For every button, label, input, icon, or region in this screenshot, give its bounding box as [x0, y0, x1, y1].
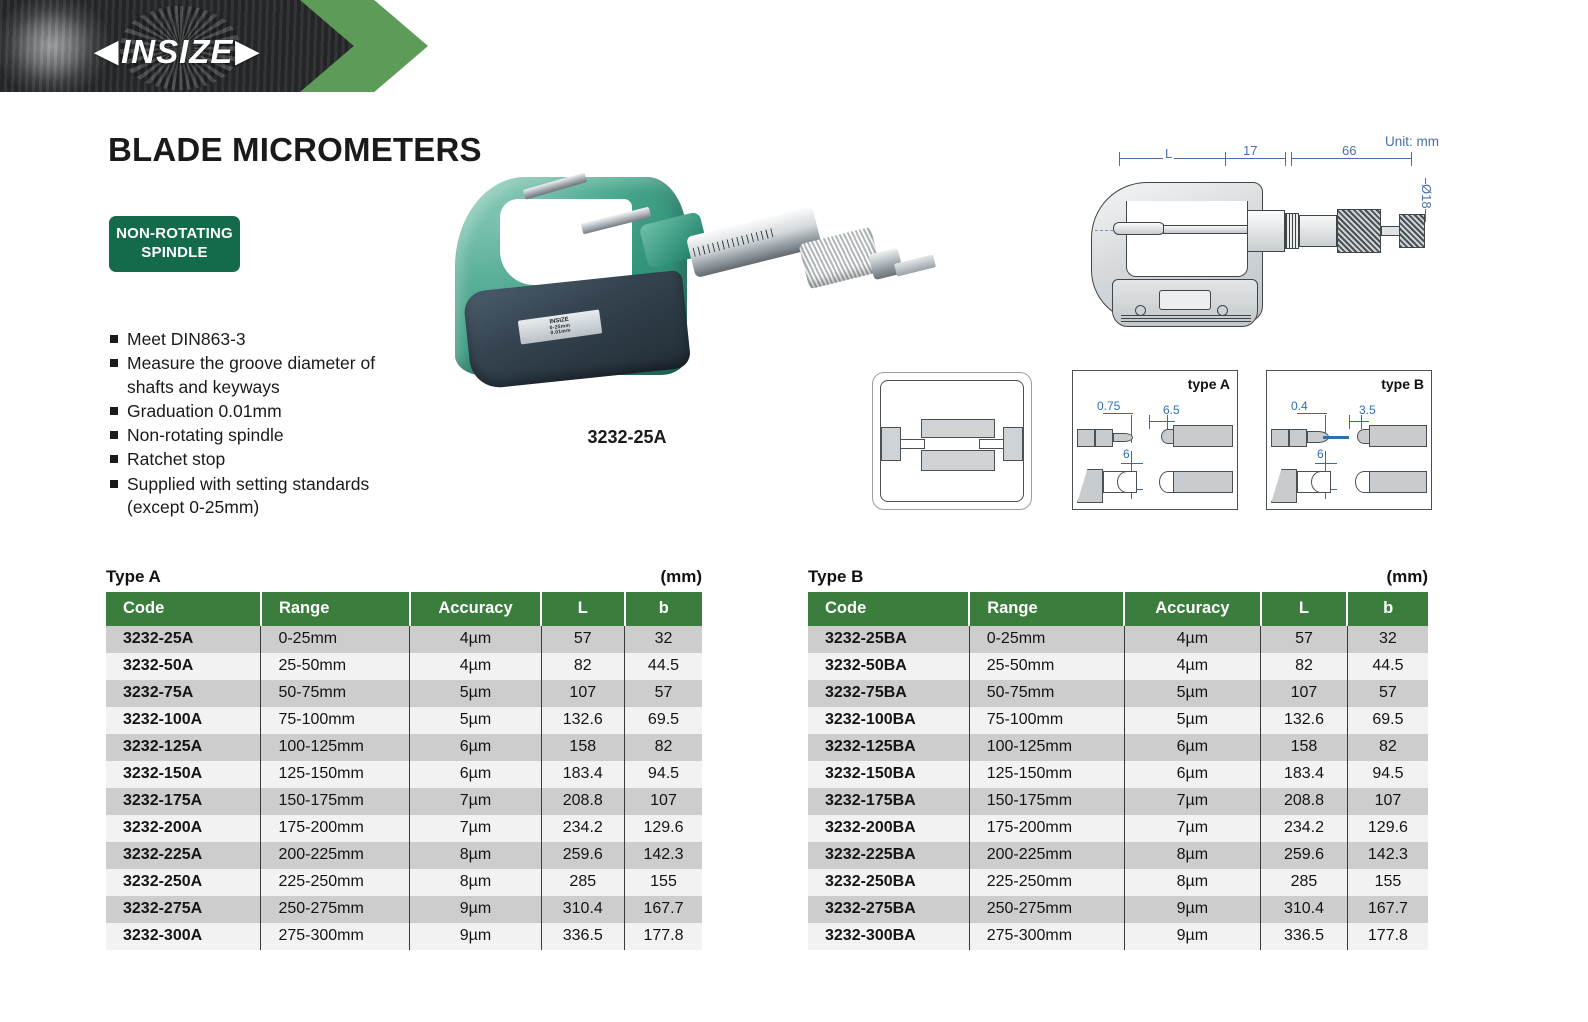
type-b-caption-text: Type B — [808, 567, 863, 587]
bullet-square-icon — [110, 455, 118, 463]
table-row[interactable]: 3232-225A 200-225mm 8µm 259.6 142.3 — [106, 842, 702, 869]
cell-b: 94.5 — [1347, 761, 1428, 788]
cell-accuracy: 9µm — [1124, 923, 1260, 950]
type-b-width-ext-l — [1349, 415, 1350, 429]
cell-b: 32 — [625, 626, 703, 653]
drawing-base-plate — [1159, 290, 1211, 310]
badge-line-2: SPINDLE — [141, 244, 207, 263]
cell-accuracy: 4µm — [410, 653, 541, 680]
cell-accuracy: 9µm — [1124, 896, 1260, 923]
bullet-square-icon — [110, 431, 118, 439]
cell-code: 3232-50BA — [808, 653, 969, 680]
cell-l: 259.6 — [1261, 842, 1348, 869]
type-a-detail-diagram: type A 0.75 6.5 6 — [1072, 370, 1238, 510]
catalog-page: ◀ INSIZE ▶ BLADE MICROMETERS NON-ROTATIN… — [0, 0, 1588, 1022]
table-row[interactable]: 3232-75A 50-75mm 5µm 107 57 — [106, 680, 702, 707]
cell-range: 25-50mm — [969, 653, 1124, 680]
cell-l: 158 — [1261, 734, 1348, 761]
cell-b: 142.3 — [1347, 842, 1428, 869]
page-title: BLADE MICROMETERS — [108, 131, 482, 169]
cell-b: 155 — [1347, 869, 1428, 896]
cell-l: 285 — [1261, 869, 1348, 896]
micrometer-throat — [500, 199, 632, 285]
type-b-right-body — [1369, 425, 1427, 447]
cell-b: 94.5 — [625, 761, 703, 788]
type-a-title: type A — [1188, 376, 1230, 392]
table-header-row: Code Range Accuracy L b — [808, 592, 1428, 626]
cell-range: 150-175mm — [261, 788, 410, 815]
cell-b: 107 — [1347, 788, 1428, 815]
table-row[interactable]: 3232-125A 100-125mm 6µm 158 82 — [106, 734, 702, 761]
dim-tick-L-right — [1225, 152, 1226, 166]
cell-accuracy: 5µm — [1124, 707, 1260, 734]
cell-b: 177.8 — [1347, 923, 1428, 950]
cell-code: 3232-75BA — [808, 680, 969, 707]
cell-range: 75-100mm — [969, 707, 1124, 734]
cell-code: 3232-25BA — [808, 626, 969, 653]
feature-text: Non-rotating spindle — [127, 424, 420, 447]
cell-b: 155 — [625, 869, 703, 896]
cell-b: 82 — [1347, 734, 1428, 761]
table-row[interactable]: 3232-250A 225-250mm 8µm 285 155 — [106, 869, 702, 896]
type-a-width-ext-r — [1167, 415, 1168, 429]
drawing-spindle — [1163, 225, 1249, 234]
table-row[interactable]: 3232-50BA 25-50mm 4µm 82 44.5 — [808, 653, 1428, 680]
type-a-height-tick-top — [1121, 463, 1143, 464]
type-a-thickness-leader — [1103, 413, 1133, 414]
type-a-frame-wedge — [1077, 469, 1103, 503]
table-row[interactable]: 3232-300BA 275-300mm 9µm 336.5 177.8 — [808, 923, 1428, 950]
type-a-anvil-round — [1117, 471, 1137, 493]
drawing-throat — [1126, 201, 1248, 277]
cell-b: 44.5 — [1347, 653, 1428, 680]
cell-l: 310.4 — [1261, 896, 1348, 923]
bullet-square-icon — [110, 480, 118, 488]
non-rotating-spindle-badge: NON-ROTATING SPINDLE — [109, 216, 240, 272]
drawing-ratchet-knurl — [1337, 209, 1381, 253]
table-row[interactable]: 3232-150BA 125-150mm 6µm 183.4 94.5 — [808, 761, 1428, 788]
cell-l: 57 — [1261, 626, 1348, 653]
column-header-code: Code — [808, 592, 969, 626]
cell-accuracy: 6µm — [1124, 761, 1260, 788]
cell-code: 3232-225BA — [808, 842, 969, 869]
cell-accuracy: 7µm — [410, 788, 541, 815]
cell-code: 3232-300A — [106, 923, 261, 950]
cell-l: 57 — [541, 626, 624, 653]
feature-text: Supplied with setting standards (except … — [127, 473, 420, 520]
cell-accuracy: 7µm — [1124, 815, 1260, 842]
cell-l: 82 — [541, 653, 624, 680]
cell-accuracy: 8µm — [1124, 869, 1260, 896]
bullet-square-icon — [110, 335, 118, 343]
cell-range: 225-250mm — [261, 869, 410, 896]
table-row[interactable]: 3232-300A 275-300mm 9µm 336.5 177.8 — [106, 923, 702, 950]
cell-range: 50-75mm — [261, 680, 410, 707]
feature-item: Meet DIN863-3 — [110, 328, 420, 351]
cell-range: 25-50mm — [261, 653, 410, 680]
cell-code: 3232-125BA — [808, 734, 969, 761]
cell-accuracy: 4µm — [1124, 626, 1260, 653]
cell-b: 167.7 — [1347, 896, 1428, 923]
cell-b: 32 — [1347, 626, 1428, 653]
feature-text: Meet DIN863-3 — [127, 328, 420, 351]
cell-accuracy: 9µm — [410, 923, 541, 950]
type-a-width-label: 6.5 — [1163, 403, 1180, 417]
product-caption: 3232-25A — [437, 427, 817, 448]
cell-accuracy: 5µm — [410, 680, 541, 707]
cell-b: 69.5 — [1347, 707, 1428, 734]
drawing-base-ribs — [1121, 315, 1251, 323]
cell-range: 125-150mm — [969, 761, 1124, 788]
cell-code: 3232-125A — [106, 734, 261, 761]
column-header-b: b — [1347, 592, 1428, 626]
cell-code: 3232-250A — [106, 869, 261, 896]
dim-line-66 — [1291, 158, 1411, 159]
type-a-unit-text: (mm) — [660, 567, 702, 587]
column-header-l: L — [1261, 592, 1348, 626]
cell-accuracy: 6µm — [410, 734, 541, 761]
drawing-sleeve — [1247, 210, 1285, 252]
cell-l: 183.4 — [541, 761, 624, 788]
cell-range: 250-275mm — [969, 896, 1124, 923]
feature-item: Graduation 0.01mm — [110, 400, 420, 423]
drawing-end-cap — [1399, 214, 1425, 248]
spindle-tail — [894, 254, 936, 276]
table-row[interactable]: 3232-100A 75-100mm 5µm 132.6 69.5 — [106, 707, 702, 734]
cell-b: 129.6 — [625, 815, 703, 842]
cell-code: 3232-250BA — [808, 869, 969, 896]
dim-tick-L-left — [1119, 152, 1120, 166]
cell-l: 208.8 — [1261, 788, 1348, 815]
dim-tick-17-right — [1285, 152, 1286, 166]
logo-left-arrow-icon: ◀ — [95, 37, 119, 67]
cell-l: 234.2 — [541, 815, 624, 842]
cell-range: 75-100mm — [261, 707, 410, 734]
table-row[interactable]: 3232-25BA 0-25mm 4µm 57 32 — [808, 626, 1428, 653]
cell-range: 250-275mm — [261, 896, 410, 923]
cell-l: 336.5 — [1261, 923, 1348, 950]
table-row[interactable]: 3232-225BA 200-225mm 8µm 259.6 142.3 — [808, 842, 1428, 869]
cell-range: 100-125mm — [261, 734, 410, 761]
dim-tick-66-left — [1291, 152, 1292, 166]
drawing-base — [1112, 279, 1258, 327]
column-header-accuracy: Accuracy — [1124, 592, 1260, 626]
type-b-left-shank — [1271, 429, 1289, 447]
bullet-square-icon — [110, 359, 118, 367]
drawing-frame — [1091, 182, 1263, 322]
cell-range: 0-25mm — [261, 626, 410, 653]
cell-code: 3232-75A — [106, 680, 261, 707]
cell-accuracy: 8µm — [410, 869, 541, 896]
cell-accuracy: 7µm — [410, 815, 541, 842]
type-b-detail-diagram: type B 0.4 3.5 6 — [1266, 370, 1432, 510]
cell-range: 275-300mm — [261, 923, 410, 950]
cell-b: 177.8 — [625, 923, 703, 950]
type-a-width-ext-l — [1149, 415, 1150, 429]
cell-code: 3232-200BA — [808, 815, 969, 842]
type-a-spec-table: Code Range Accuracy L b 3232-25A 0-25mm … — [106, 592, 702, 950]
type-b-height-tick-top — [1315, 463, 1337, 464]
type-a-right-body — [1173, 425, 1233, 447]
cell-code: 3232-275BA — [808, 896, 969, 923]
cell-code: 3232-175BA — [808, 788, 969, 815]
type-a-caption-text: Type A — [106, 567, 161, 587]
cell-accuracy: 6µm — [1124, 734, 1260, 761]
type-b-table-caption: Type B (mm) — [808, 567, 1428, 587]
cell-range: 225-250mm — [969, 869, 1124, 896]
cell-range: 200-225mm — [969, 842, 1124, 869]
bullet-square-icon — [110, 407, 118, 415]
cell-l: 158 — [541, 734, 624, 761]
cell-b: 82 — [625, 734, 703, 761]
type-b-spec-table: Code Range Accuracy L b 3232-25BA 0-25mm… — [808, 592, 1428, 950]
cell-b: 107 — [625, 788, 703, 815]
drawing-stem — [1381, 226, 1401, 236]
table-row[interactable]: 3232-175BA 150-175mm 7µm 208.8 107 — [808, 788, 1428, 815]
type-b-left-body — [1289, 429, 1307, 447]
cell-range: 50-75mm — [969, 680, 1124, 707]
cell-range: 100-125mm — [969, 734, 1124, 761]
application-diagram — [872, 372, 1032, 510]
type-b-frame-wedge — [1271, 469, 1297, 503]
type-b-thickness-label: 0.4 — [1291, 399, 1308, 413]
table-row[interactable]: 3232-275A 250-275mm 9µm 310.4 167.7 — [106, 896, 702, 923]
column-header-l: L — [541, 592, 624, 626]
table-row[interactable]: 3232-150A 125-150mm 6µm 183.4 94.5 — [106, 761, 702, 788]
feature-text: Measure the groove diameter of shafts an… — [127, 352, 420, 399]
micrometer-sleeve — [686, 206, 822, 278]
cell-code: 3232-100BA — [808, 707, 969, 734]
cell-b: 57 — [625, 680, 703, 707]
type-b-tip-contact — [1323, 436, 1349, 439]
cell-accuracy: 9µm — [410, 896, 541, 923]
type-b-width-ext-r — [1361, 415, 1362, 429]
cell-accuracy: 6µm — [410, 761, 541, 788]
type-a-left-shank — [1077, 429, 1095, 447]
cell-range: 0-25mm — [969, 626, 1124, 653]
cell-code: 3232-175A — [106, 788, 261, 815]
cell-code: 3232-150BA — [808, 761, 969, 788]
type-b-unit-text: (mm) — [1386, 567, 1428, 587]
type-a-table-caption: Type A (mm) — [106, 567, 702, 587]
anvil-right — [1003, 427, 1023, 461]
feature-text: Ratchet stop — [127, 448, 420, 471]
cell-code: 3232-200A — [106, 815, 261, 842]
dimension-drawing: Unit: mm L 17 66 Ø18 b — [1085, 132, 1445, 337]
dim-label-66: 66 — [1340, 143, 1358, 158]
table-row[interactable]: 3232-25A 0-25mm 4µm 57 32 — [106, 626, 702, 653]
column-header-range: Range — [261, 592, 410, 626]
cell-l: 336.5 — [541, 923, 624, 950]
cell-l: 82 — [1261, 653, 1348, 680]
cell-code: 3232-225A — [106, 842, 261, 869]
micrometer-side-view — [1085, 170, 1445, 330]
feature-item: Measure the groove diameter of shafts an… — [110, 352, 420, 399]
type-a-width-line — [1149, 421, 1175, 422]
cell-l: 285 — [541, 869, 624, 896]
cell-b: 142.3 — [625, 842, 703, 869]
type-a-left-body — [1095, 429, 1113, 447]
cell-code: 3232-100A — [106, 707, 261, 734]
cell-b: 129.6 — [1347, 815, 1428, 842]
cell-range: 150-175mm — [969, 788, 1124, 815]
cell-l: 132.6 — [541, 707, 624, 734]
cell-accuracy: 8µm — [410, 842, 541, 869]
column-header-b: b — [625, 592, 703, 626]
table-row[interactable]: 3232-175A 150-175mm 7µm 208.8 107 — [106, 788, 702, 815]
table-row[interactable]: 3232-100BA 75-100mm 5µm 132.6 69.5 — [808, 707, 1428, 734]
cell-range: 125-150mm — [261, 761, 410, 788]
cell-accuracy: 5µm — [1124, 680, 1260, 707]
type-a-table-section: Type A (mm) Code Range Accuracy L b 3232… — [106, 567, 702, 950]
cell-range: 175-200mm — [261, 815, 410, 842]
table-row[interactable]: 3232-50A 25-50mm 4µm 82 44.5 — [106, 653, 702, 680]
table-header-row: Code Range Accuracy L b — [106, 592, 702, 626]
unit-label: Unit: mm — [1385, 134, 1439, 149]
feature-list: Meet DIN863-3 Measure the groove diamete… — [110, 328, 420, 520]
sleeve-scale — [693, 228, 775, 257]
type-b-thickness-leader — [1297, 413, 1327, 414]
table-row[interactable]: 3232-250BA 225-250mm 8µm 285 155 — [808, 869, 1428, 896]
cell-l: 234.2 — [1261, 815, 1348, 842]
feature-item: Non-rotating spindle — [110, 424, 420, 447]
cell-accuracy: 7µm — [1124, 788, 1260, 815]
logo-right-arrow-icon: ▶ — [235, 37, 259, 67]
feature-item: Supplied with setting standards (except … — [110, 473, 420, 520]
type-b-title: type B — [1381, 376, 1424, 392]
type-b-width-line — [1349, 421, 1369, 422]
table-row[interactable]: 3232-200BA 175-200mm 7µm 234.2 129.6 — [808, 815, 1428, 842]
cell-range: 275-300mm — [969, 923, 1124, 950]
cell-b: 57 — [1347, 680, 1428, 707]
cell-code: 3232-50A — [106, 653, 261, 680]
cell-accuracy: 8µm — [1124, 842, 1260, 869]
header-banner: ◀ INSIZE ▶ — [0, 0, 1588, 92]
dim-tick-66-right — [1411, 152, 1412, 166]
cell-b: 69.5 — [625, 707, 703, 734]
cell-l: 310.4 — [541, 896, 624, 923]
cell-b: 44.5 — [625, 653, 703, 680]
table-row[interactable]: 3232-125BA 100-125mm 6µm 158 82 — [808, 734, 1428, 761]
type-a-left-blade-tip — [1113, 433, 1133, 442]
cell-l: 183.4 — [1261, 761, 1348, 788]
table-row[interactable]: 3232-275BA 250-275mm 9µm 310.4 167.7 — [808, 896, 1428, 923]
cell-code: 3232-150A — [106, 761, 261, 788]
cell-accuracy: 4µm — [1124, 653, 1260, 680]
cell-b: 167.7 — [625, 896, 703, 923]
drawing-lock-knurl — [1285, 213, 1299, 249]
cell-l: 259.6 — [541, 842, 624, 869]
cell-accuracy: 5µm — [410, 707, 541, 734]
drawing-anvil — [1113, 222, 1165, 235]
label-graduation: 0.01mm — [550, 329, 571, 337]
cell-range: 175-200mm — [969, 815, 1124, 842]
type-b-height-label: 6 — [1317, 447, 1324, 461]
anvil-left — [881, 427, 901, 461]
type-b-width-label: 3.5 — [1359, 403, 1376, 417]
cell-l: 132.6 — [1261, 707, 1348, 734]
cell-code: 3232-300BA — [808, 923, 969, 950]
product-photo: INSIZE 0-25mm 0.01mm — [437, 163, 937, 423]
cell-l: 208.8 — [541, 788, 624, 815]
cell-range: 200-225mm — [261, 842, 410, 869]
type-b-table-section: Type B (mm) Code Range Accuracy L b 3232… — [808, 567, 1428, 950]
type-a-spindle-bottom — [1173, 471, 1233, 493]
cell-l: 107 — [1261, 680, 1348, 707]
cell-code: 3232-275A — [106, 896, 261, 923]
table-row[interactable]: 3232-200A 175-200mm 7µm 234.2 129.6 — [106, 815, 702, 842]
dim-label-L: L — [1163, 146, 1174, 161]
table-row[interactable]: 3232-75BA 50-75mm 5µm 107 57 — [808, 680, 1428, 707]
cell-l: 107 — [541, 680, 624, 707]
drawing-thimble — [1299, 215, 1337, 247]
type-a-thickness-label: 0.75 — [1097, 399, 1120, 413]
type-b-anvil-round — [1311, 471, 1331, 493]
badge-line-1: NON-ROTATING — [116, 225, 233, 244]
cell-code: 3232-25A — [106, 626, 261, 653]
cell-accuracy: 4µm — [410, 626, 541, 653]
column-header-code: Code — [106, 592, 261, 626]
feature-item: Ratchet stop — [110, 448, 420, 471]
feature-text: Graduation 0.01mm — [127, 400, 420, 423]
type-b-spindle-bottom — [1369, 471, 1427, 493]
application-diagram-border — [880, 380, 1024, 502]
insize-logo: ◀ INSIZE ▶ — [95, 33, 260, 71]
dim-line-17 — [1225, 158, 1285, 159]
dim-label-17: 17 — [1241, 143, 1259, 158]
column-header-accuracy: Accuracy — [410, 592, 541, 626]
type-a-height-label: 6 — [1123, 447, 1130, 461]
logo-wordmark: INSIZE — [121, 33, 233, 71]
column-header-range: Range — [969, 592, 1124, 626]
